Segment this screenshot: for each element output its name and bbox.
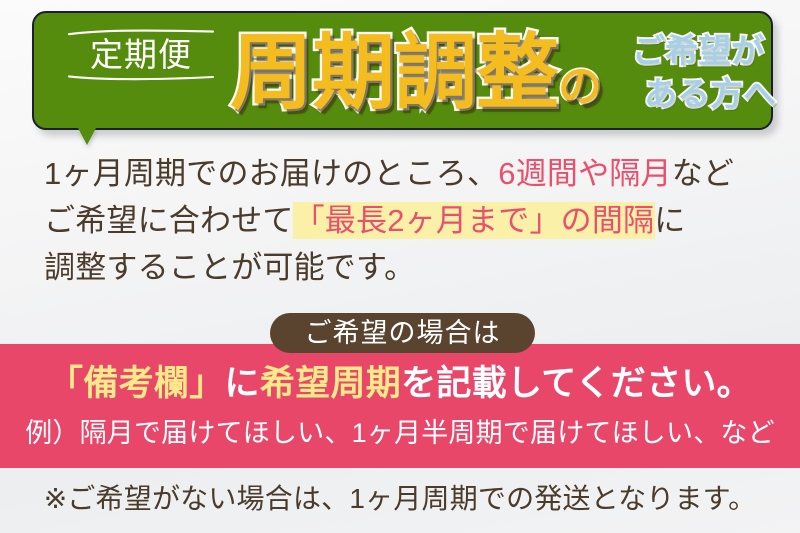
tagline-line-2: ある方へ (632, 75, 776, 112)
lede-line-2-highlight: 「最長2ヶ月まで」の間隔 (294, 203, 655, 238)
pink-headline-white-2: を記載してください。 (401, 364, 752, 403)
pink-example-text: 例）隔月で届けてほしい、1ヶ月半周期で届けてほしい、など (0, 416, 800, 450)
promo-banner: 定期便 周期調整の ご希望が ある方へ 1ヶ月周期でのお届けのところ、6週間や隔… (0, 0, 800, 533)
lede-paragraph: 1ヶ月周期でのお届けのところ、6週間や隔月など ご希望に合わせて「最長2ヶ月まで… (0, 150, 800, 291)
pink-headline-white-1: に (225, 364, 260, 403)
lede-line-1: 1ヶ月周期でのお届けのところ、6週間や隔月など (0, 150, 800, 197)
badge-pill: ご希望の場合は (270, 313, 535, 353)
lede-line-1-part-a: 1ヶ月周期でのお届けのところ、 (44, 156, 498, 191)
main-title-text: 周期調整 (230, 26, 558, 119)
pink-headline: 「備考欄」に希望周期を記載してください。 (0, 362, 800, 406)
pink-headline-yellow-1: 「備考欄」 (48, 364, 225, 403)
pink-headline-yellow-2: 希望周期 (260, 364, 401, 403)
brush-stroke-bottom-icon (67, 74, 215, 81)
tagline-line-1: ご希望が (632, 32, 764, 69)
badge-label: ご希望の場合は (305, 319, 501, 347)
lede-line-2-part-a: ご希望に合わせて (44, 203, 294, 238)
tagline: ご希望が ある方へ (632, 29, 792, 115)
kicker-block: 定期便 (62, 29, 220, 81)
main-title: 周期調整の (230, 25, 602, 135)
lede-line-1-part-b: など (672, 156, 734, 191)
brush-stroke-top-icon (67, 29, 215, 36)
lede-line-2-part-b: に (654, 203, 685, 238)
pink-band: 「備考欄」に希望周期を記載してください。 例）隔月で届けてほしい、1ヶ月半周期で… (0, 344, 800, 468)
lede-line-1-accent: 6週間や隔月 (498, 156, 671, 191)
header-plate: 定期便 周期調整の ご希望が ある方へ (32, 11, 773, 130)
lede-line-3: 調整することが可能です。 (0, 244, 800, 291)
kicker-label: 定期便 (62, 36, 220, 74)
speech-bubble-tail-icon (78, 128, 96, 145)
main-title-particle: の (558, 62, 602, 111)
lede-line-2: ご希望に合わせて「最長2ヶ月まで」の間隔に (0, 197, 800, 244)
footnote: ※ご希望がない場合は、1ヶ月周期での発送となります。 (0, 480, 800, 518)
